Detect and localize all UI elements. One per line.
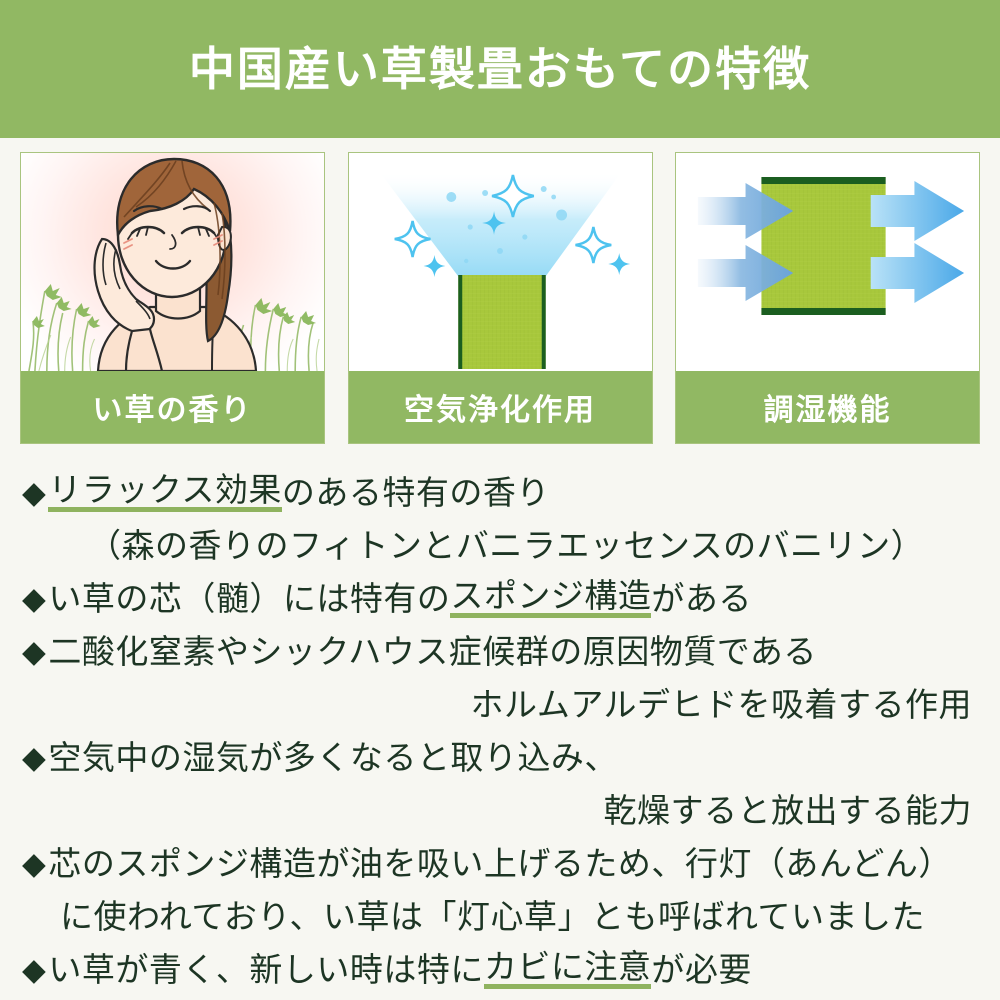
description-text: 芯のスポンジ構造が油を吸い上げるため、行灯（あんどん） <box>48 847 952 880</box>
description-line: ◆い草が青く、新しい時は特にカビに注意が必要 <box>0 943 1000 996</box>
diamond-bullet-icon: ◆ <box>22 954 46 985</box>
description-text: 乾燥すると放出する能力 <box>604 794 973 827</box>
card-label-aroma: い草の香り <box>21 371 324 443</box>
description-line: ◆二酸化窒素やシックハウス症候群の原因物質である <box>0 625 1000 678</box>
air-purification-illustration <box>349 153 652 371</box>
card-label-humidity-control: 調湿機能 <box>676 371 979 443</box>
diamond-bullet-icon: ◆ <box>22 477 46 508</box>
card-label-air-purification: 空気浄化作用 <box>349 371 652 443</box>
description-text: い草の芯（髄）には特有の <box>48 582 450 615</box>
humidity-control-illustration <box>676 153 979 371</box>
description-line: に使われており、い草は「灯心草」とも呼ばれていました <box>0 890 1000 943</box>
highlighted-term: スポンジ構造 <box>450 579 651 618</box>
description-text: が必要 <box>651 953 752 986</box>
description-line: ◆芯のスポンジ構造が油を吸い上げるため、行灯（あんどん） <box>0 837 1000 890</box>
page-title: 中国産い草製畳おもての特徴 <box>189 46 811 92</box>
description-line: ◆い草の芯（髄）には特有のスポンジ構造がある <box>0 572 1000 625</box>
description-line: ◆空気中の湿気が多くなると取り込み、 <box>0 731 1000 784</box>
description-text: がある <box>651 582 752 615</box>
tatami-sparkle-graphic <box>349 153 652 371</box>
description-line: ◆リラックス効果のある特有の香り <box>0 466 1000 519</box>
aroma-illustration <box>21 153 324 371</box>
feature-card-air-purification[interactable]: 空気浄化作用 <box>348 152 653 444</box>
feature-description-list: ◆リラックス効果のある特有の香り（森の香りのフィトンとバニラエッセンスのバニリン… <box>0 466 1000 996</box>
diamond-bullet-icon: ◆ <box>22 636 46 667</box>
diamond-bullet-icon: ◆ <box>22 742 46 773</box>
description-text: （森の香りのフィトンとバニラエッセンスのバニリン） <box>88 529 924 562</box>
feature-card-row: い草の香り <box>20 152 980 444</box>
tatami-airflow-graphic <box>676 153 979 371</box>
description-text: 二酸化窒素やシックハウス症候群の原因物質である <box>48 635 817 668</box>
diamond-bullet-icon: ◆ <box>22 583 46 614</box>
feature-card-aroma[interactable]: い草の香り <box>20 152 325 444</box>
infographic-page: 中国産い草製畳おもての特徴 <box>0 0 1000 1000</box>
description-text: に使われており、い草は「灯心草」とも呼ばれていました <box>60 900 925 933</box>
description-line: （森の香りのフィトンとバニラエッセンスのバニリン） <box>0 519 1000 572</box>
description-text: 空気中の湿気が多くなると取り込み、 <box>48 741 618 774</box>
description-text: ホルムアルデヒドを吸着する作用 <box>470 688 972 721</box>
woman-face-icon <box>58 153 288 371</box>
description-line: 乾燥すると放出する能力 <box>0 784 1000 837</box>
description-text: のある特有の香り <box>282 476 550 509</box>
diamond-bullet-icon: ◆ <box>22 848 46 879</box>
description-text: い草が青く、新しい時は特に <box>48 953 484 986</box>
description-line: ホルムアルデヒドを吸着する作用 <box>0 678 1000 731</box>
highlighted-term: カビに注意 <box>484 950 652 989</box>
page-header: 中国産い草製畳おもての特徴 <box>0 0 1000 138</box>
feature-card-humidity-control[interactable]: 調湿機能 <box>675 152 980 444</box>
highlighted-term: リラックス効果 <box>48 473 282 512</box>
